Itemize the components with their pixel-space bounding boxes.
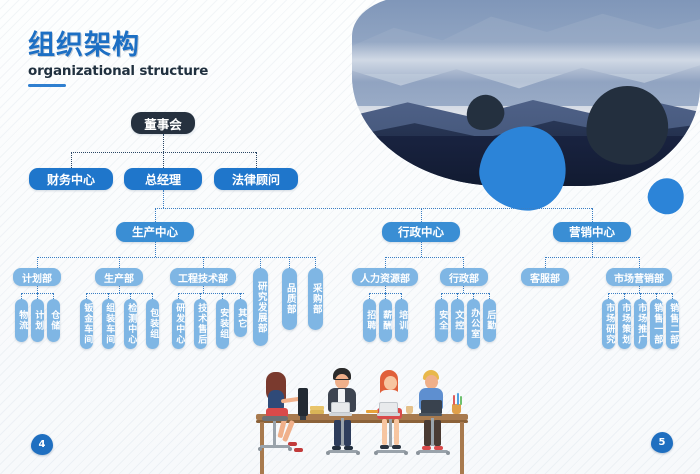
team-at-desk-illustration	[248, 362, 474, 474]
node-hr-dept[interactable]: 人力资源部	[352, 268, 418, 286]
monitor-stand	[300, 416, 306, 420]
node-sheet-metal-shop[interactable]: 钣金车间	[80, 299, 93, 349]
slide-canvas: 组织架构 organizational structure 董事会 财务中心 总…	[0, 0, 700, 474]
connector-planning-down	[37, 286, 38, 293]
node-planning[interactable]: 计划	[31, 299, 44, 342]
node-document-control[interactable]: 文控	[451, 299, 464, 342]
connector-planning-up	[37, 257, 38, 268]
node-production-dept[interactable]: 生产部	[95, 268, 143, 286]
node-tech-after-sales[interactable]: 技术售后	[194, 299, 207, 349]
node-general-manager[interactable]: 总经理	[124, 168, 202, 190]
connector-marketing-down	[592, 242, 593, 257]
node-planning-dept[interactable]: 计划部	[13, 268, 61, 286]
connector-finance-up	[71, 152, 72, 168]
connector-admin-dept-bus	[385, 257, 463, 258]
node-logistics[interactable]: 物流	[15, 299, 28, 342]
node-logistics-support[interactable]: 后勤	[483, 299, 496, 342]
connector-production-down	[155, 242, 156, 257]
node-sales-dept-2[interactable]: 销售二部	[666, 299, 679, 349]
pen-holder	[452, 404, 461, 414]
node-rnd-center[interactable]: 研发中心	[172, 299, 185, 349]
node-recruitment[interactable]: 招聘	[363, 299, 376, 342]
node-production-center[interactable]: 生产中心	[116, 222, 194, 242]
node-market-sales-dept[interactable]: 市场营销部	[606, 268, 672, 286]
connector-admin-down	[421, 242, 422, 257]
node-market-promotion[interactable]: 市场推广	[634, 299, 647, 349]
node-marketing-center[interactable]: 营销中心	[553, 222, 631, 242]
connector-marketing-dept-bus	[545, 257, 639, 258]
node-customer-service-dept[interactable]: 客服部	[521, 268, 569, 286]
connector-production-dept-bus	[37, 257, 315, 258]
connector-administration-up	[463, 257, 464, 268]
connector-production-up	[155, 208, 156, 222]
connector-administration-child-bus	[441, 293, 489, 294]
connector-gm-down	[163, 190, 164, 208]
node-packaging-group[interactable]: 包装组	[146, 299, 159, 349]
node-market-planning[interactable]: 市场策划	[618, 299, 631, 349]
connector-purchasing-up	[315, 257, 316, 268]
node-installation-group[interactable]: 安装组	[216, 299, 229, 349]
connector-marketsales-down	[639, 286, 640, 293]
desk-leg-right	[460, 422, 464, 474]
connector-customerservice-up	[545, 257, 546, 268]
connector-production-dept-up	[119, 257, 120, 268]
connector-legal-up	[256, 152, 257, 168]
connector-administration-down	[463, 286, 464, 293]
laptop-person-4	[421, 400, 442, 413]
connector-marketsales-up	[639, 257, 640, 268]
node-safety[interactable]: 安全	[435, 299, 448, 342]
connector-engineering-child-bus	[178, 293, 244, 294]
desk-stationery	[366, 410, 378, 413]
node-assembly-shop[interactable]: 组装车间	[102, 299, 115, 349]
page-number-left[interactable]: 4	[31, 434, 53, 455]
node-legal-advisor[interactable]: 法律顾问	[214, 168, 298, 190]
connector-board-down	[163, 134, 164, 152]
connector-marketing-up	[592, 208, 593, 222]
node-rnd-dept[interactable]: 研究发展部	[253, 268, 268, 346]
node-administration-dept[interactable]: 行政部	[440, 268, 488, 286]
node-other[interactable]: 其它	[234, 299, 247, 337]
laptop-person-2	[331, 402, 350, 413]
node-purchasing-dept[interactable]: 采购部	[308, 268, 323, 330]
connector-gm-up	[163, 152, 164, 168]
node-training[interactable]: 培训	[395, 299, 408, 342]
node-quality-dept[interactable]: 品质部	[282, 268, 297, 330]
connector-production-child-bus	[86, 293, 152, 294]
laptop-person-3	[379, 402, 398, 413]
connector-engineering-up	[203, 257, 204, 268]
connector-hr-up	[385, 257, 386, 268]
node-engineering-dept[interactable]: 工程技术部	[170, 268, 236, 286]
node-compensation[interactable]: 薪酬	[379, 299, 392, 342]
node-office[interactable]: 办公室	[467, 299, 480, 349]
coffee-cup	[406, 406, 413, 414]
connector-level2-bus	[155, 208, 592, 209]
node-market-research[interactable]: 市场研究	[602, 299, 615, 349]
monitor-screen	[298, 388, 308, 416]
node-finance-center[interactable]: 财务中心	[29, 168, 113, 190]
connector-hr-down	[385, 286, 386, 293]
connector-production-dept-down	[119, 286, 120, 293]
connector-quality-up	[289, 257, 290, 268]
node-inspection-center[interactable]: 检测中心	[124, 299, 137, 349]
node-board[interactable]: 董事会	[131, 112, 195, 134]
node-warehouse[interactable]: 仓储	[47, 299, 60, 342]
page-number-right[interactable]: 5	[651, 432, 673, 453]
connector-rnd-up	[260, 257, 261, 268]
node-sales-dept-1[interactable]: 销售一部	[650, 299, 663, 349]
connector-engineering-down	[203, 286, 204, 293]
connector-admin-up	[421, 208, 422, 222]
node-admin-center[interactable]: 行政中心	[382, 222, 460, 242]
